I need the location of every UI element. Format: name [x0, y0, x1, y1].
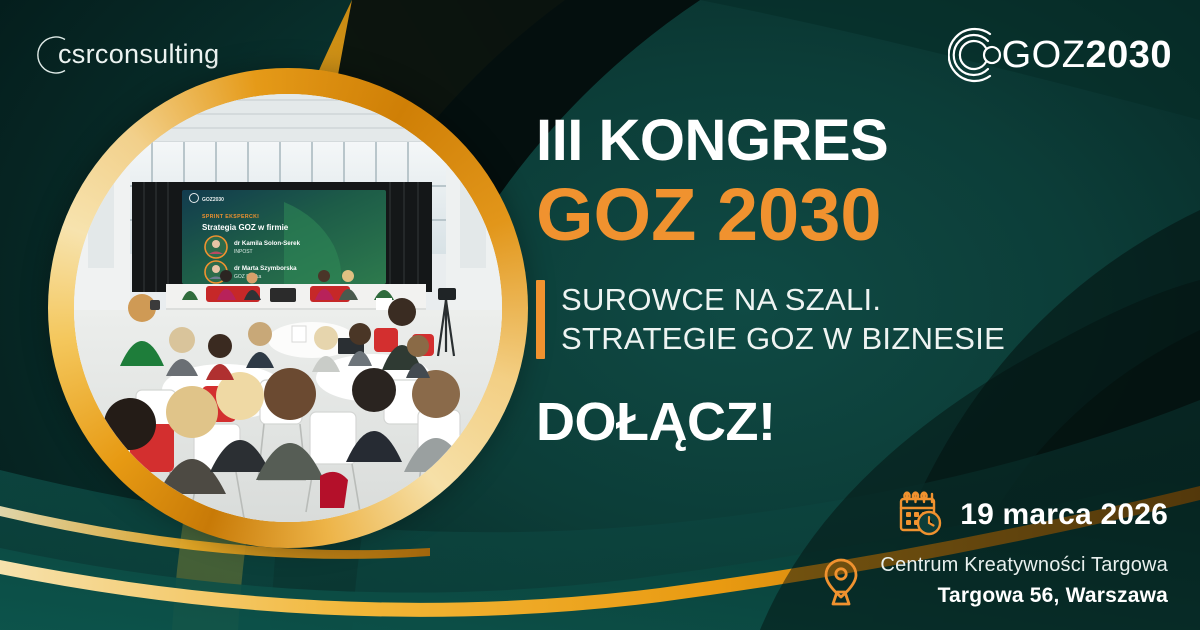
photo-image: GOZ2030 SPRINT EKSPERCKI Strategia GOZ w…: [74, 94, 502, 522]
headline-line-1: III KONGRES: [536, 112, 1176, 170]
svg-text:dr Marta Szymborska: dr Marta Szymborska: [234, 265, 297, 272]
headline-line-2: GOZ 2030: [536, 176, 1176, 254]
event-info-block: 19 marca 2026 Centrum Kreatywności Targo…: [818, 490, 1168, 610]
event-date: 19 marca 2026: [960, 498, 1168, 532]
event-banner: csrconsulting GOZ2030: [0, 0, 1200, 630]
svg-text:INPOST: INPOST: [234, 249, 253, 255]
event-date-row: 19 marca 2026: [818, 490, 1168, 540]
svg-text:SPRINT EKSPERCKI: SPRINT EKSPERCKI: [202, 214, 259, 220]
venue-name: Centrum Kreatywności Targowa: [880, 552, 1168, 579]
subtitle-line-1: SUROWCE NA SZALI.: [561, 280, 1005, 320]
svg-text:dr Kamila Solon-Serek: dr Kamila Solon-Serek: [234, 240, 301, 247]
conference-room-illustration: GOZ2030 SPRINT EKSPERCKI Strategia GOZ w…: [74, 94, 502, 522]
subtitle-text: SUROWCE NA SZALI. STRATEGIE GOZ W BIZNES…: [561, 280, 1005, 359]
goz-logo-year: 2030: [1085, 34, 1172, 76]
subtitle-line-2: STRATEGIE GOZ W BIZNESIE: [561, 319, 1005, 359]
subtitle-accent-bar: [536, 280, 545, 359]
goz-logo-word: GOZ: [1002, 34, 1086, 76]
headline-block: III KONGRES GOZ 2030 SUROWCE NA SZALI. S…: [536, 112, 1176, 453]
location-pin-icon: [818, 556, 864, 606]
event-venue: Centrum Kreatywności Targowa Targowa 56,…: [880, 552, 1168, 610]
subtitle-block: SUROWCE NA SZALI. STRATEGIE GOZ W BIZNES…: [536, 280, 1176, 359]
calendar-clock-icon: [898, 490, 944, 540]
venue-address: Targowa 56, Warszawa: [880, 581, 1168, 610]
goz2030-logo[interactable]: GOZ2030: [948, 22, 1172, 88]
goz2030-logo-text: GOZ2030: [1002, 34, 1172, 77]
csrconsulting-logo-text: csrconsulting: [58, 39, 219, 70]
svg-text:GOZ2030: GOZ2030: [202, 197, 224, 203]
event-venue-row: Centrum Kreatywności Targowa Targowa 56,…: [818, 552, 1168, 610]
goz-spiral-arcs-icon: [948, 25, 1008, 85]
svg-text:Strategia GOZ w firmie: Strategia GOZ w firmie: [202, 223, 289, 232]
call-to-action-text: DOŁĄCZ!: [536, 391, 1176, 453]
conference-photo: GOZ2030 SPRINT EKSPERCKI Strategia GOZ w…: [48, 68, 528, 548]
